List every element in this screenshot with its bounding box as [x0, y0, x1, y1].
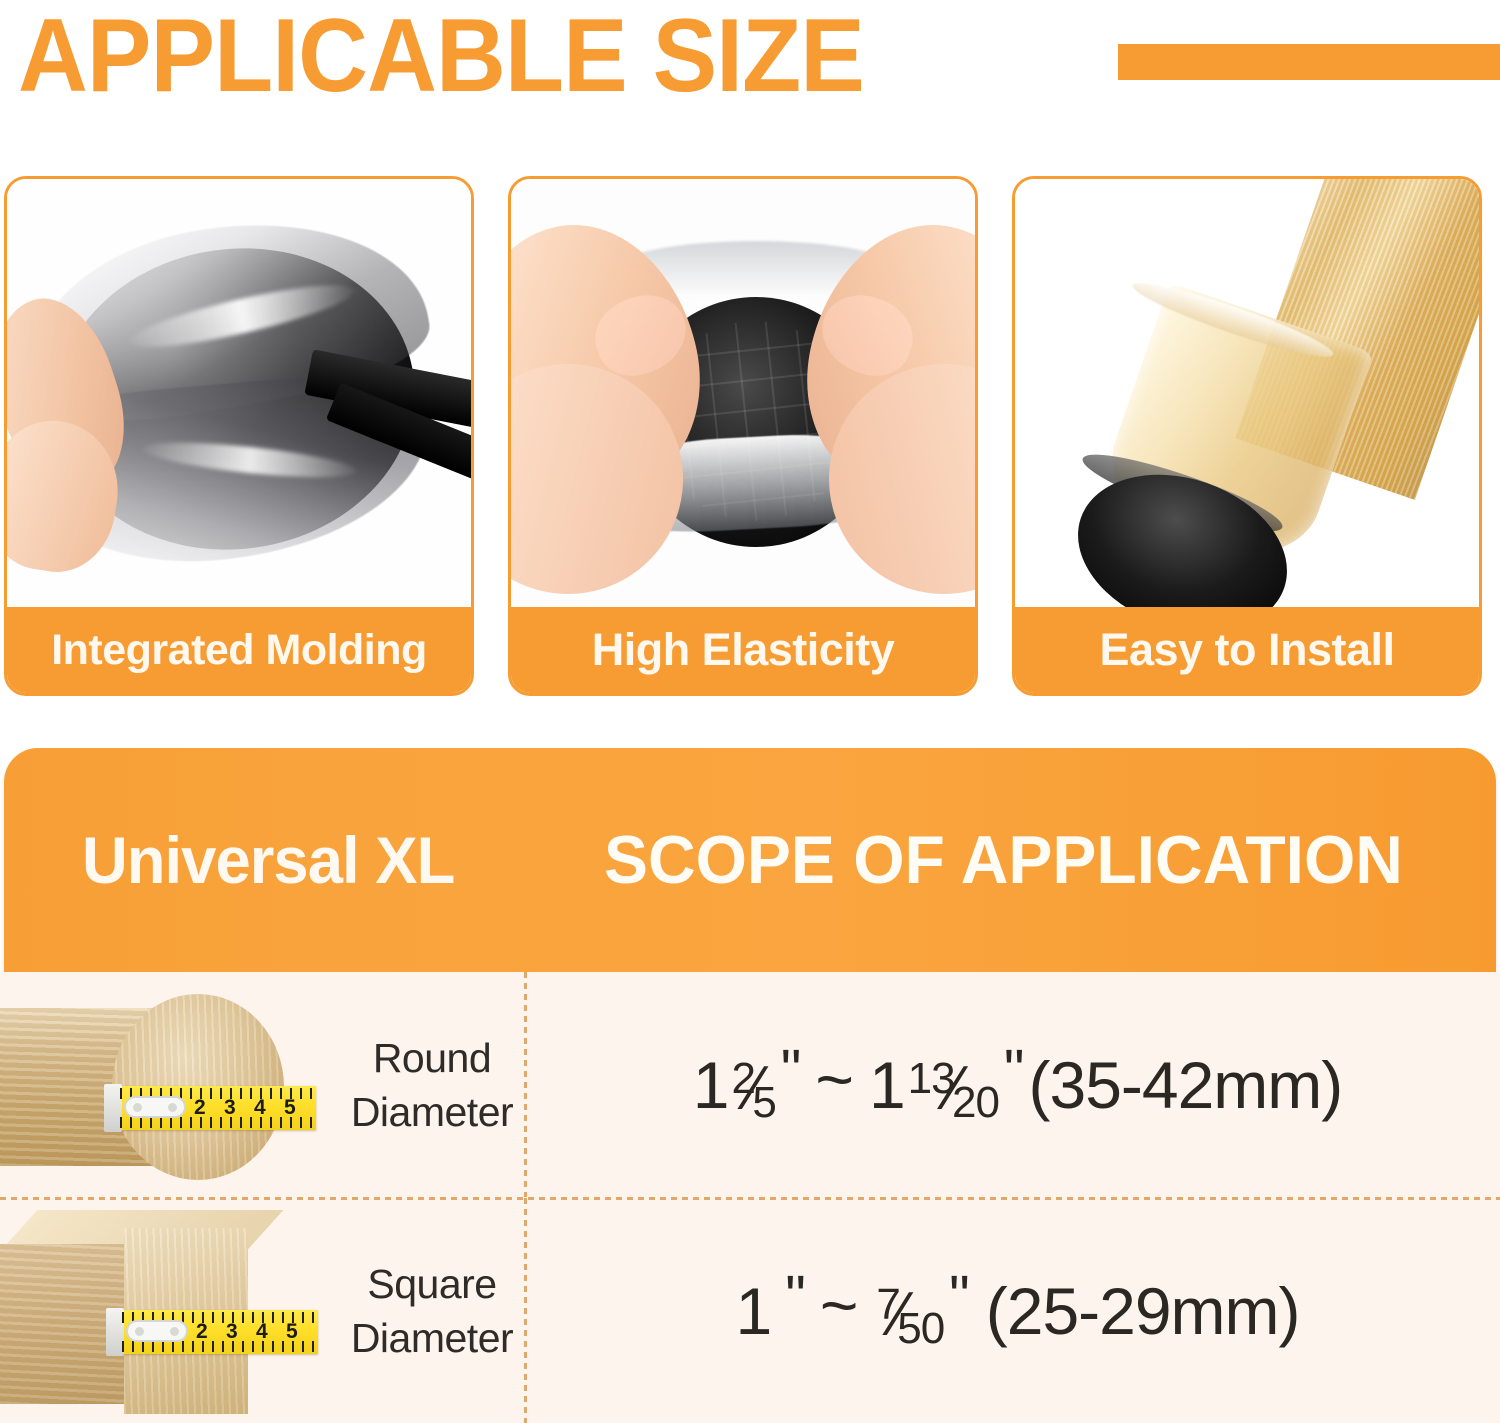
scope-banner: Universal XL SCOPE OF APPLICATION [4, 748, 1496, 972]
tape-mark: 5 [284, 1096, 296, 1120]
metric-value: (25-29mm) [986, 1273, 1300, 1349]
banner-heading: SCOPE OF APPLICATION [604, 821, 1403, 899]
square-diameter-value: 1"~7⁄50"(25-29mm) [540, 1198, 1495, 1423]
tape-mark: 3 [226, 1320, 238, 1344]
tape-mark: 4 [254, 1096, 266, 1120]
header-accent-rule [1118, 44, 1500, 80]
feature-card-high-elasticity[interactable]: High Elasticity [508, 176, 978, 696]
max-denominator: 20 [952, 1078, 999, 1127]
tape-clip [124, 1096, 186, 1118]
feature-photo-high-elasticity [511, 179, 975, 616]
tape-mark: 4 [256, 1320, 268, 1344]
round-wooden-dowel: 2 3 4 5 [0, 994, 286, 1180]
range-separator: ~ [815, 1041, 853, 1117]
tape-mark: 3 [224, 1096, 236, 1120]
page-header: APPLICABLE SIZE [0, 0, 1500, 150]
feature-photo-easy-to-install [1015, 179, 1479, 616]
round-diameter-value: 12⁄5"~113⁄20"(35-42mm) [540, 972, 1495, 1197]
feature-caption: Integrated Molding [7, 607, 471, 693]
min-fraction: 2⁄5 [729, 1054, 779, 1116]
max-denominator: 50 [897, 1304, 944, 1353]
banner-model-label: Universal XL [82, 822, 454, 898]
max-numerator: 13 [908, 1054, 955, 1103]
page-title: APPLICABLE SIZE [18, 2, 864, 110]
tape-mark: 2 [194, 1096, 206, 1120]
round-diameter-label: Round Diameter [340, 972, 524, 1197]
min-whole: 1 [693, 1047, 729, 1123]
inch-mark: " [785, 1263, 804, 1330]
label-line-1: Round [373, 1031, 491, 1085]
row-vertical-divider [524, 1198, 527, 1423]
tape-measure-round: 2 3 4 5 [120, 1086, 316, 1130]
square-diameter-label: Square Diameter [340, 1198, 524, 1423]
max-fraction: 7⁄50 [874, 1280, 948, 1342]
min-whole: 1 [736, 1273, 772, 1349]
inch-mark: " [1004, 1037, 1023, 1104]
row-vertical-divider [524, 972, 527, 1197]
tape-mark: 2 [196, 1320, 208, 1344]
feature-caption: High Elasticity [511, 607, 975, 693]
tape-clip [126, 1320, 188, 1342]
square-wooden-beam: 2 3 4 5 [0, 1210, 296, 1418]
feature-card-easy-to-install[interactable]: Easy to Install [1012, 176, 1482, 696]
table-row-round: 2 3 4 5 Round Diameter 12⁄5"~113⁄20"(35-… [0, 972, 1500, 1197]
round-leg-photo-cell: 2 3 4 5 [0, 972, 340, 1197]
max-whole: 1 [869, 1047, 905, 1123]
feature-caption: Easy to Install [1015, 607, 1479, 693]
feature-card-integrated-molding[interactable]: Integrated Molding [4, 176, 474, 696]
inch-mark: " [781, 1037, 800, 1104]
size-table: 2 3 4 5 Round Diameter 12⁄5"~113⁄20"(35-… [0, 972, 1500, 1423]
feature-photo-integrated-molding [7, 179, 471, 616]
tape-measure-square: 2 3 4 5 [122, 1310, 318, 1354]
square-leg-photo-cell: 2 3 4 5 [0, 1198, 340, 1423]
tape-mark: 5 [286, 1320, 298, 1344]
label-line-2: Diameter [351, 1085, 513, 1139]
metric-value: (35-42mm) [1029, 1047, 1343, 1123]
label-line-2: Diameter [351, 1311, 513, 1365]
range-separator: ~ [820, 1267, 858, 1343]
label-line-1: Square [367, 1257, 496, 1311]
max-fraction: 13⁄20 [906, 1054, 1003, 1116]
min-denominator: 5 [752, 1078, 775, 1127]
table-row-square: 2 3 4 5 Square Diameter 1"~7⁄50"(25-29mm… [0, 1198, 1500, 1423]
inch-mark: " [949, 1263, 968, 1330]
feature-card-list: Integrated Molding High Elasticity Easy [0, 176, 1500, 706]
